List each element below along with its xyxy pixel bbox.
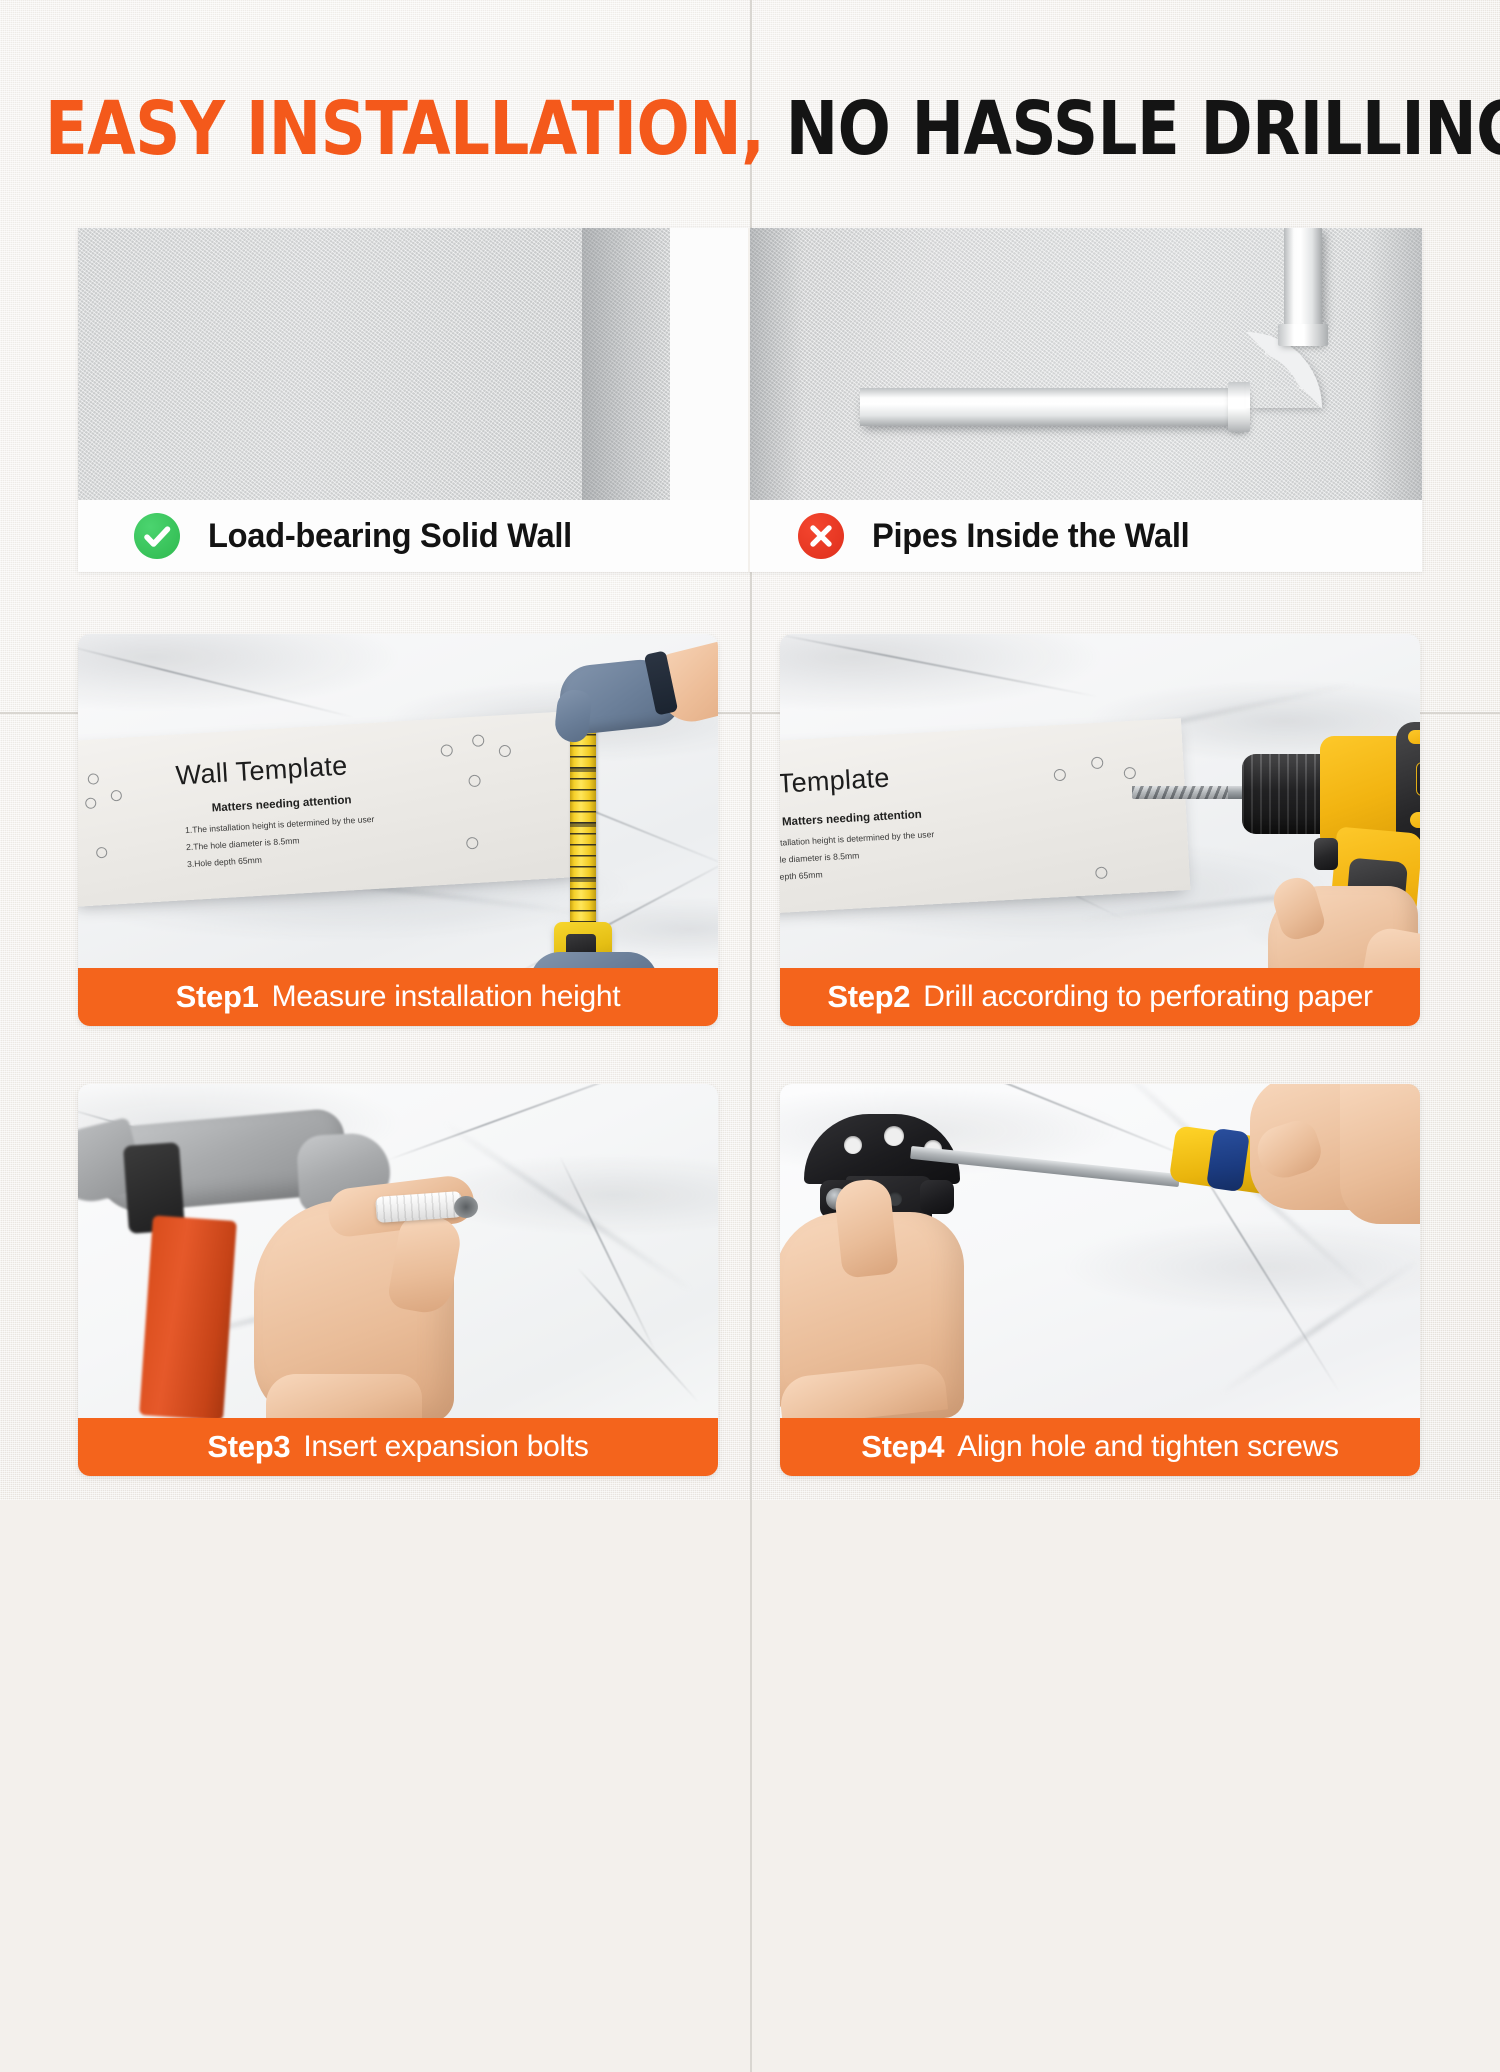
- wall-template-title: ll Template: [780, 763, 890, 801]
- bracket-barrel-right: [920, 1180, 954, 1214]
- wall-template-note: he installation height is determined by …: [780, 829, 934, 849]
- step-card-3: Step3 Insert expansion bolts: [78, 1084, 718, 1476]
- template-hole: [440, 744, 453, 757]
- template-hole: [468, 775, 481, 788]
- template-hole: [1054, 769, 1067, 782]
- step-3-number: Step3: [207, 1429, 290, 1465]
- template-hole: [111, 790, 123, 802]
- step-card-1: Wall Template Matters needing attention …: [78, 634, 718, 1026]
- index-finger: [833, 1177, 899, 1278]
- solid-wall-photo: [78, 228, 748, 500]
- step-1-caption: Step1 Measure installation height: [78, 968, 718, 1026]
- template-hole: [96, 847, 108, 859]
- wall-template-paper: ll Template Matters needing attention he…: [780, 718, 1190, 914]
- step-4-text: Align hole and tighten screws: [957, 1430, 1339, 1464]
- template-hole: [1091, 757, 1104, 770]
- step-2-text: Drill according to perforating paper: [923, 980, 1372, 1014]
- pipes-in-wall-label: Pipes Inside the Wall: [872, 517, 1189, 556]
- step-3-photo: [78, 1084, 718, 1418]
- comparison-card-solid-wall: Load-bearing Solid Wall: [78, 228, 750, 572]
- drill-chuck-rings: [1242, 754, 1330, 834]
- page-title-rest: NO HASSLE DRILLING: [786, 86, 1500, 172]
- solid-wall-caption: Load-bearing Solid Wall: [78, 500, 748, 572]
- drill-vent: [1410, 812, 1420, 828]
- bracket-hole: [844, 1136, 862, 1154]
- wrist: [1340, 1084, 1420, 1224]
- step-3-text: Insert expansion bolts: [303, 1430, 588, 1464]
- template-hole: [1095, 866, 1108, 879]
- wall-comparison-section: Load-bearing Solid Wall Pipes: [78, 228, 1422, 572]
- wall-template-subtitle: Matters needing attention: [211, 794, 351, 814]
- wall-template-paper: Wall Template Matters needing attention …: [78, 711, 582, 907]
- step-1-photo: Wall Template Matters needing attention …: [78, 634, 718, 968]
- gloved-hand-lower: [530, 952, 658, 968]
- cross-circle-icon: [798, 513, 844, 559]
- step-card-4: Step4 Align hole and tighten screws: [780, 1084, 1420, 1476]
- wall-template-note: 1.The installation height is determined …: [185, 814, 375, 835]
- template-hole: [88, 773, 100, 785]
- drill-trigger: [1314, 838, 1338, 870]
- solid-wall-label: Load-bearing Solid Wall: [208, 517, 572, 556]
- wall-template-subtitle: Matters needing attention: [782, 809, 922, 829]
- drill-bit-flutes: [1132, 786, 1228, 799]
- check-circle-icon: [134, 513, 180, 559]
- drill-vent: [1408, 730, 1420, 744]
- step-4-photo: [780, 1084, 1420, 1418]
- pipe-horizontal-segment: [860, 388, 1250, 426]
- step-2-caption: Step2 Drill according to perforating pap…: [780, 968, 1420, 1026]
- page-title-emphasis: EASY INSTALLATION,: [45, 86, 764, 172]
- step-3-caption: Step3 Insert expansion bolts: [78, 1418, 718, 1476]
- step-2-number: Step2: [827, 979, 910, 1015]
- wall-template-note: 2.The hole diameter is 8.5mm: [186, 835, 300, 852]
- step-1-number: Step1: [176, 979, 259, 1015]
- wall-template-note: he hole diameter is 8.5mm: [780, 850, 860, 866]
- step-4-number: Step4: [861, 1429, 944, 1465]
- step-card-2: ll Template Matters needing attention he…: [780, 634, 1420, 1026]
- drill-brushless-badge: BRUSHLESS MOTOR: [1416, 762, 1420, 796]
- tape-measure-blade: [570, 712, 596, 934]
- bracket-hole: [884, 1126, 904, 1146]
- wrist: [266, 1374, 422, 1418]
- pipe-vertical-segment: [1284, 228, 1322, 336]
- template-hole: [85, 797, 97, 809]
- wall-template-note: lole depth 65mm: [780, 869, 823, 883]
- template-hole: [499, 745, 512, 758]
- step-1-text: Measure installation height: [272, 980, 621, 1014]
- template-hole: [472, 734, 485, 747]
- wall-template-title: Wall Template: [175, 750, 349, 791]
- step-2-photo: ll Template Matters needing attention he…: [780, 634, 1420, 968]
- hammer-handle: [139, 1215, 237, 1418]
- comparison-card-pipes: Pipes Inside the Wall: [750, 228, 1422, 572]
- step-4-caption: Step4 Align hole and tighten screws: [780, 1418, 1420, 1476]
- pipes-in-wall-caption: Pipes Inside the Wall: [750, 500, 1422, 572]
- pipe-collar-vertical: [1278, 324, 1328, 346]
- page-title: EASY INSTALLATION, NO HASSLE DRILLING: [45, 92, 1455, 166]
- pipes-in-wall-photo: [750, 228, 1422, 500]
- template-hole: [466, 837, 479, 850]
- wall-template-note: 3.Hole depth 65mm: [187, 855, 262, 869]
- background-grid-line: [750, 572, 752, 2072]
- template-hole: [1124, 767, 1137, 780]
